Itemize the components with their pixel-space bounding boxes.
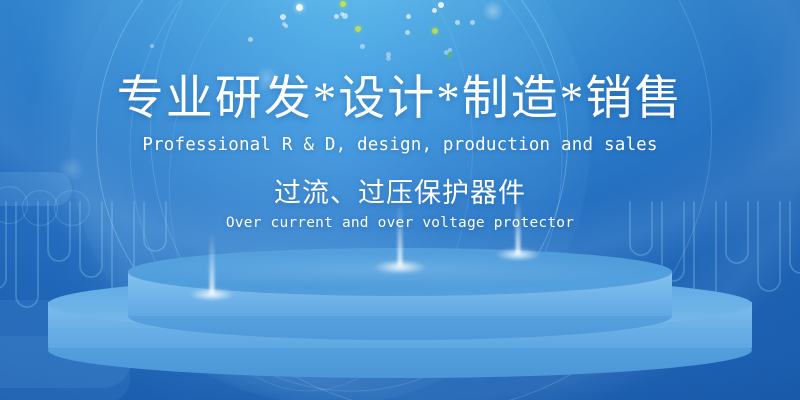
blob-shape-left-secondary xyxy=(0,336,130,400)
headline-chinese: 专业研发*设计*制造*销售 xyxy=(0,0,800,123)
promo-banner: 专业研发*设计*制造*销售 Professional R & D, design… xyxy=(0,0,800,400)
subtitle-english: Over current and over voltage protector xyxy=(0,210,800,231)
banner-text-block: 专业研发*设计*制造*销售 Professional R & D, design… xyxy=(0,0,800,231)
subtitle-chinese: 过流、过压保护器件 xyxy=(0,155,800,210)
headline-english: Professional R & D, design, production a… xyxy=(0,123,800,155)
